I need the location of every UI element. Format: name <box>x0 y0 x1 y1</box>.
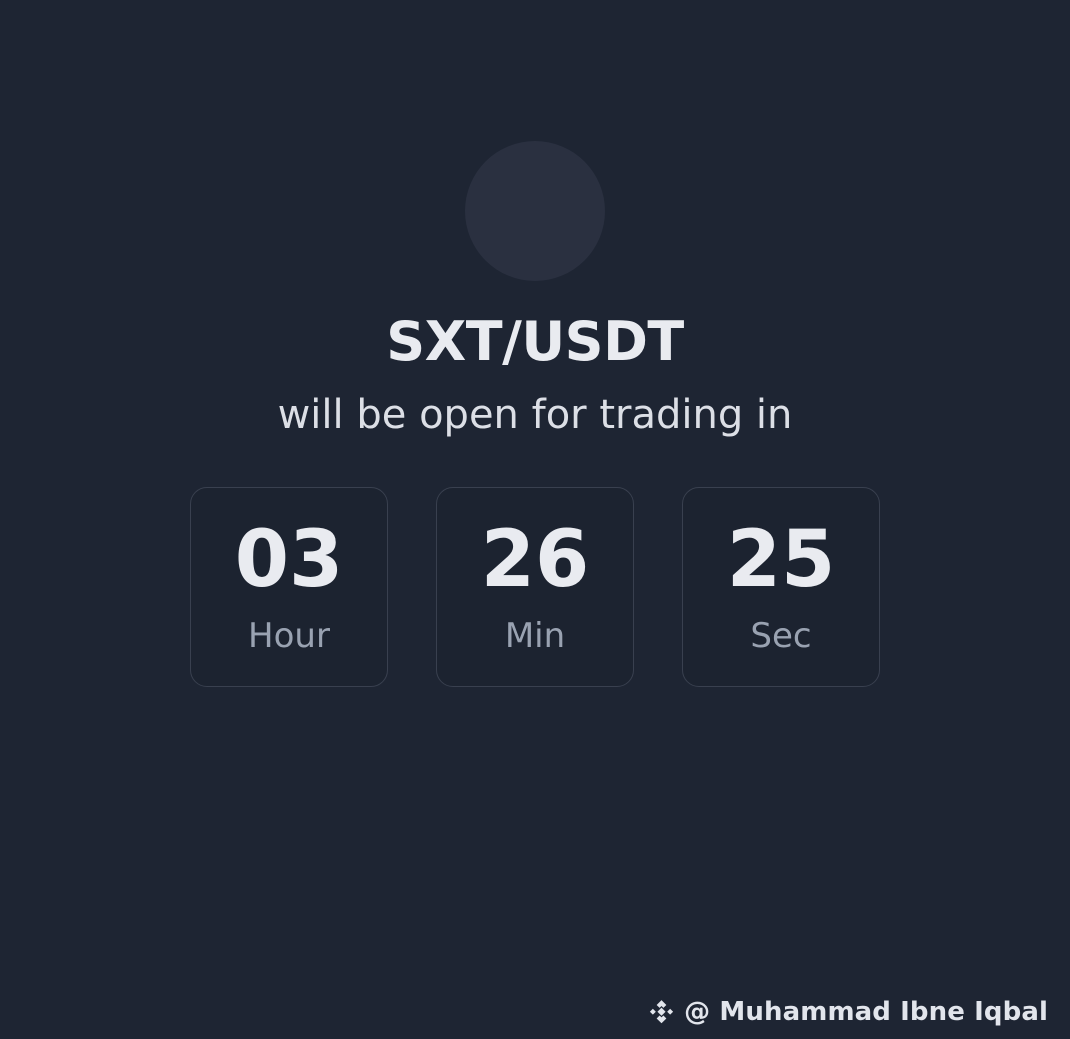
listing-countdown-screen: SXT/USDT will be open for trading in 03 … <box>0 0 1070 1039</box>
watermark-handle: @ Muhammad Ibne Iqbal <box>684 997 1048 1027</box>
coin-avatar-wrapper <box>465 141 605 281</box>
countdown-timer: 03 Hour 26 Min 25 Sec <box>190 487 880 687</box>
listing-subtitle: will be open for trading in <box>278 393 793 437</box>
countdown-min-value: 26 <box>481 521 590 599</box>
countdown-min-label: Min <box>505 619 565 653</box>
trading-pair-title: SXT/USDT <box>386 314 683 371</box>
countdown-sec-label: Sec <box>750 619 811 653</box>
countdown-hour-value: 03 <box>235 521 344 599</box>
coin-logo-placeholder-icon <box>465 141 605 281</box>
countdown-hour-label: Hour <box>248 619 330 653</box>
binance-diamond-icon <box>648 999 675 1026</box>
watermark: @ Muhammad Ibne Iqbal <box>648 997 1048 1027</box>
countdown-sec-value: 25 <box>727 521 836 599</box>
countdown-unit-hour: 03 Hour <box>190 487 388 687</box>
countdown-unit-sec: 25 Sec <box>682 487 880 687</box>
countdown-unit-min: 26 Min <box>436 487 634 687</box>
